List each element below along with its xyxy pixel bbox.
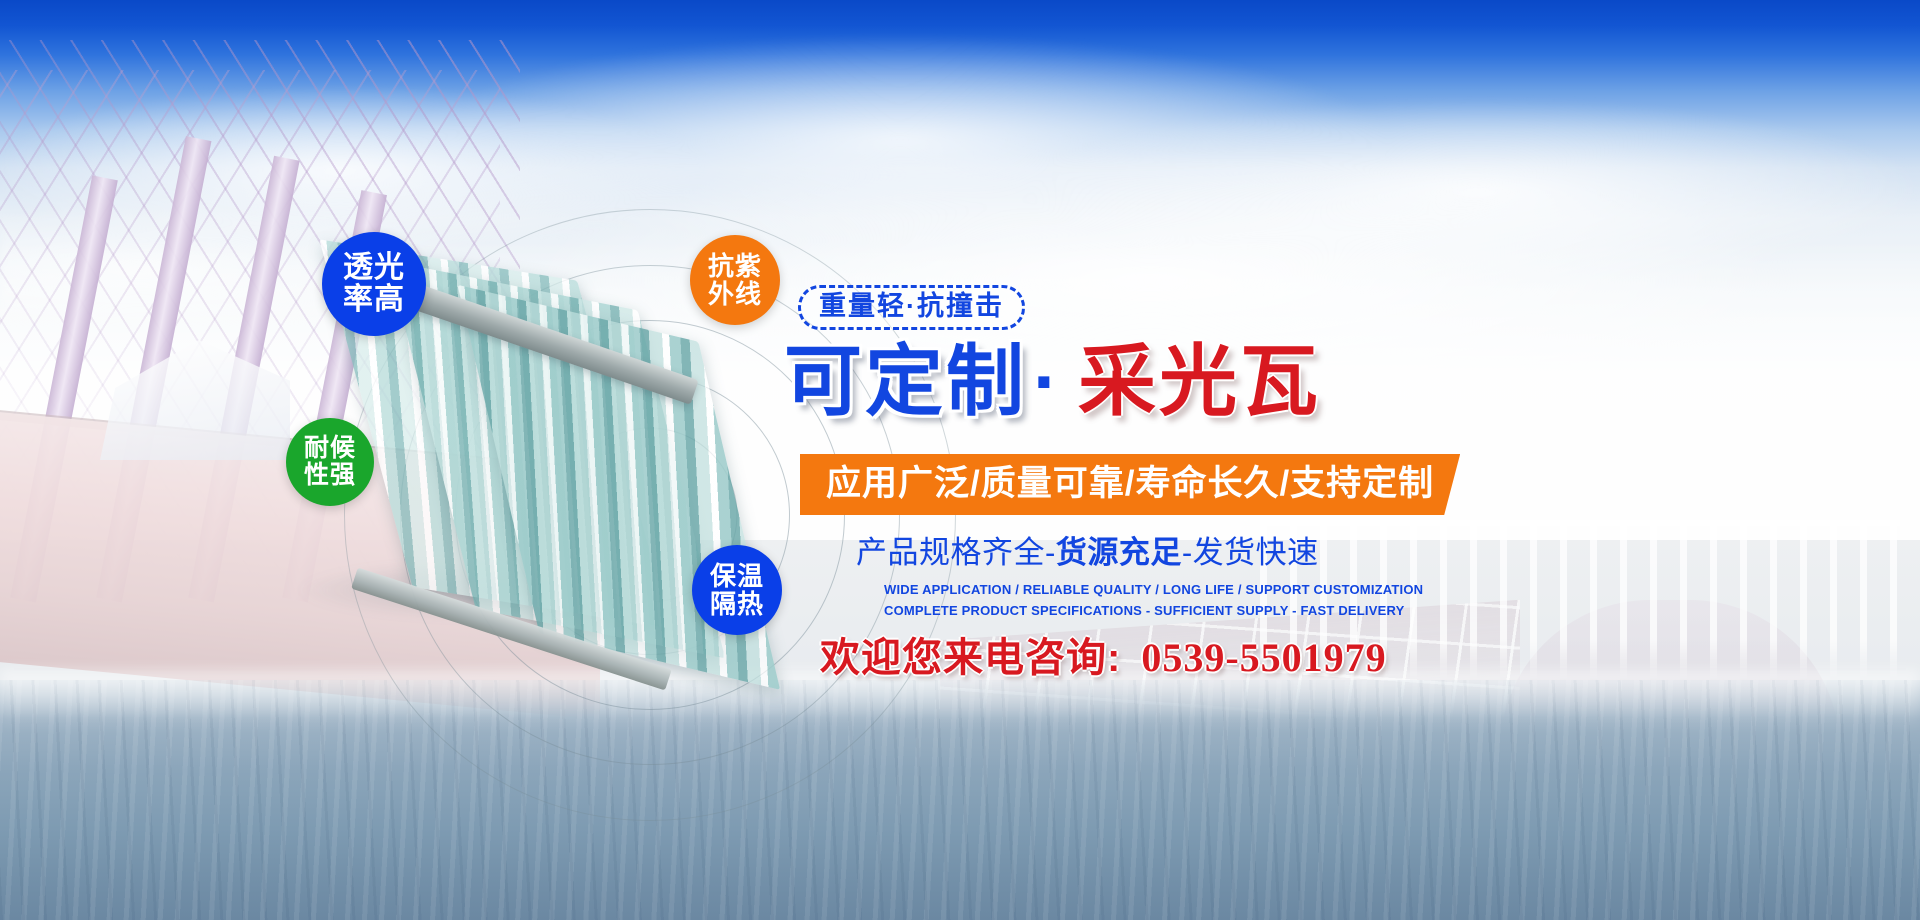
badge-line-2: 隔热 xyxy=(710,590,764,618)
promo-banner: 透光 率高 抗紫 外线 耐候 性强 保温 隔热 重量轻·抗撞击 可定制·采光瓦 … xyxy=(0,0,1920,920)
english-subtitle: WIDE APPLICATION / RELIABLE QUALITY / LO… xyxy=(884,580,1884,622)
english-line-2: COMPLETE PRODUCT SPECIFICATIONS - SUFFIC… xyxy=(884,601,1884,622)
badge-weather-resistant[interactable]: 耐候 性强 xyxy=(286,418,374,506)
english-line-1: WIDE APPLICATION / RELIABLE QUALITY / LO… xyxy=(884,580,1884,601)
badge-line-1: 抗紫 xyxy=(708,252,762,280)
subline-highlight: 货源充足 xyxy=(1056,535,1182,570)
headline-accent: 采光瓦 xyxy=(1078,337,1321,425)
headline-separator: · xyxy=(1027,337,1068,425)
subline-part-1: 产品规格齐全- xyxy=(856,535,1056,570)
badge-line-1: 透光 xyxy=(343,252,405,284)
tagline-pill: 重量轻·抗撞击 xyxy=(798,285,1025,330)
headline-primary: 可定制 xyxy=(784,337,1027,425)
badge-line-1: 耐候 xyxy=(304,435,356,462)
feature-band: 应用广泛/质量可靠/寿命长久/支持定制 xyxy=(800,454,1460,515)
subline: 产品规格齐全-货源充足-发货快速 xyxy=(856,537,1884,568)
contact-phone-number[interactable]: 0539-5501979 xyxy=(1141,635,1386,680)
subline-part-2: -发货快速 xyxy=(1182,535,1319,570)
badge-line-1: 保温 xyxy=(710,562,764,590)
badge-line-2: 率高 xyxy=(343,284,405,316)
badge-high-light-transmittance[interactable]: 透光 率高 xyxy=(322,232,426,336)
badge-line-2: 性强 xyxy=(304,462,356,489)
badge-uv-resistant[interactable]: 抗紫 外线 xyxy=(690,235,780,325)
page-title: 可定制·采光瓦 xyxy=(784,342,1884,420)
badge-line-2: 外线 xyxy=(708,280,762,308)
badge-thermal-insulation[interactable]: 保温 隔热 xyxy=(692,545,782,635)
marketing-copy-block: 重量轻·抗撞击 可定制·采光瓦 应用广泛/质量可靠/寿命长久/支持定制 产品规格… xyxy=(784,285,1884,678)
contact-line: 欢迎您来电咨询:0539-5501979 xyxy=(820,638,1884,678)
contact-label: 欢迎您来电咨询: xyxy=(820,636,1121,680)
